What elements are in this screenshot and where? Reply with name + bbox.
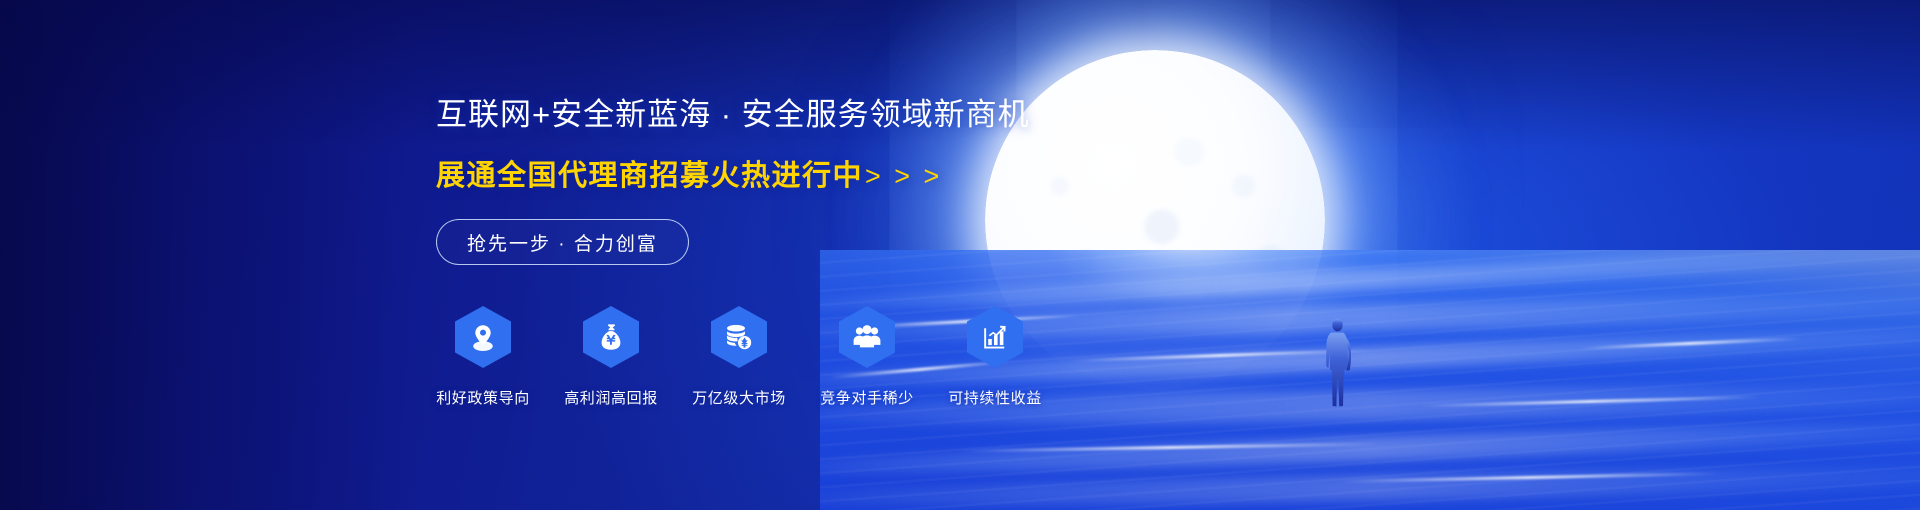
cta-pill-button[interactable]: 抢先一步 · 合力创富 bbox=[436, 219, 689, 265]
water-highlight bbox=[1420, 396, 1760, 408]
water-highlight bbox=[1580, 337, 1800, 350]
feature-item[interactable]: 可持续性收益 bbox=[944, 306, 1046, 408]
feature-label: 万亿级大市场 bbox=[692, 387, 786, 408]
water-highlight bbox=[1340, 472, 1720, 483]
money-bag-yuan-icon bbox=[583, 306, 639, 368]
banner-headline: 互联网+安全新蓝海 · 安全服务领域新商机 bbox=[436, 96, 1156, 133]
group-people-icon bbox=[839, 306, 895, 368]
left-vignette bbox=[0, 0, 420, 510]
chevrons-forward-icon: > > > bbox=[865, 161, 942, 191]
standing-man-silhouette bbox=[1318, 318, 1358, 410]
promo-banner: 互联网+安全新蓝海 · 安全服务领域新商机 展通全国代理商招募火热进行中> > … bbox=[0, 0, 1920, 510]
feature-item[interactable]: 万亿级大市场 bbox=[688, 306, 790, 408]
water-highlight bbox=[960, 442, 1380, 452]
banner-copy: 互联网+安全新蓝海 · 安全服务领域新商机 展通全国代理商招募火热进行中> > … bbox=[436, 96, 1156, 265]
bar-chart-growth-icon bbox=[967, 306, 1023, 368]
location-pin-person-icon bbox=[455, 306, 511, 368]
water-wave bbox=[820, 461, 1920, 510]
feature-label: 利好政策导向 bbox=[436, 387, 530, 408]
water-wave bbox=[820, 413, 1920, 483]
feature-label: 高利润高回报 bbox=[564, 387, 658, 408]
moon-reflection bbox=[1000, 250, 1380, 430]
feature-item[interactable]: 高利润高回报 bbox=[560, 306, 662, 408]
feature-list: 利好政策导向 高利润高回报 bbox=[432, 306, 1046, 408]
subheadline-text: 展通全国代理商招募火热进行中 bbox=[436, 160, 863, 192]
feature-label: 竞争对手稀少 bbox=[820, 387, 914, 408]
banner-subheadline: 展通全国代理商招募火热进行中> > > bbox=[436, 152, 1156, 194]
feature-item[interactable]: 竞争对手稀少 bbox=[816, 306, 918, 408]
feature-item[interactable]: 利好政策导向 bbox=[432, 306, 534, 408]
coin-stack-yuan-icon bbox=[711, 306, 767, 368]
water-highlight bbox=[1070, 349, 1370, 362]
feature-label: 可持续性收益 bbox=[948, 387, 1042, 408]
